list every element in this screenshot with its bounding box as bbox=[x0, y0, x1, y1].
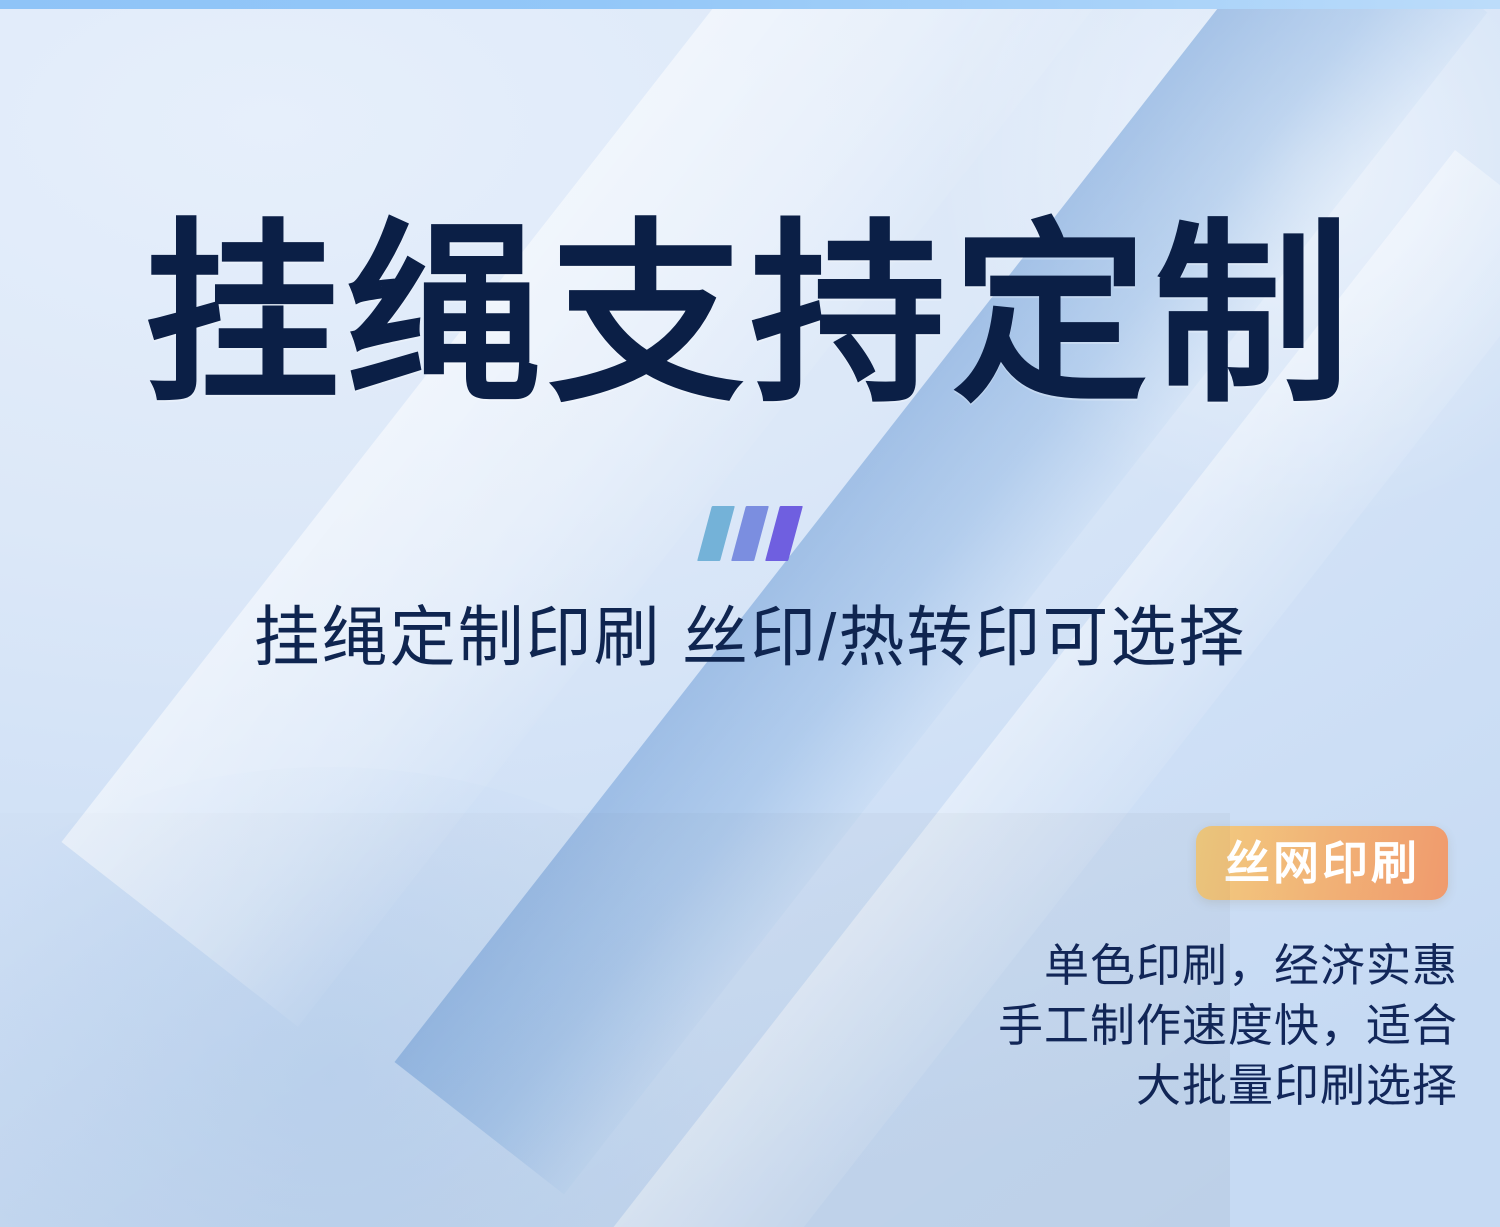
feature-description-line-1: 单色印刷，经济实惠 bbox=[818, 936, 1458, 996]
banner-stage: 挂绳支持定制 挂绳定制印刷 丝印/热转印可选择 丝网印刷 单色印刷，经济实惠 手… bbox=[0, 0, 1500, 1227]
page-subtitle: 挂绳定制印刷 丝印/热转印可选择 bbox=[0, 596, 1500, 679]
divider-mark-2 bbox=[731, 506, 769, 561]
top-accent-strip bbox=[0, 0, 1500, 9]
status-badge-label: 丝网印刷 bbox=[1224, 840, 1420, 886]
feature-description-line-3: 大批量印刷选择 bbox=[818, 1056, 1458, 1116]
divider-marks bbox=[705, 506, 796, 561]
feature-description: 单色印刷，经济实惠 手工制作速度快，适合 大批量印刷选择 bbox=[818, 936, 1458, 1116]
status-badge: 丝网印刷 bbox=[1196, 826, 1448, 900]
feature-description-line-2: 手工制作速度快，适合 bbox=[818, 996, 1458, 1056]
page-title: 挂绳支持定制 bbox=[0, 218, 1500, 414]
